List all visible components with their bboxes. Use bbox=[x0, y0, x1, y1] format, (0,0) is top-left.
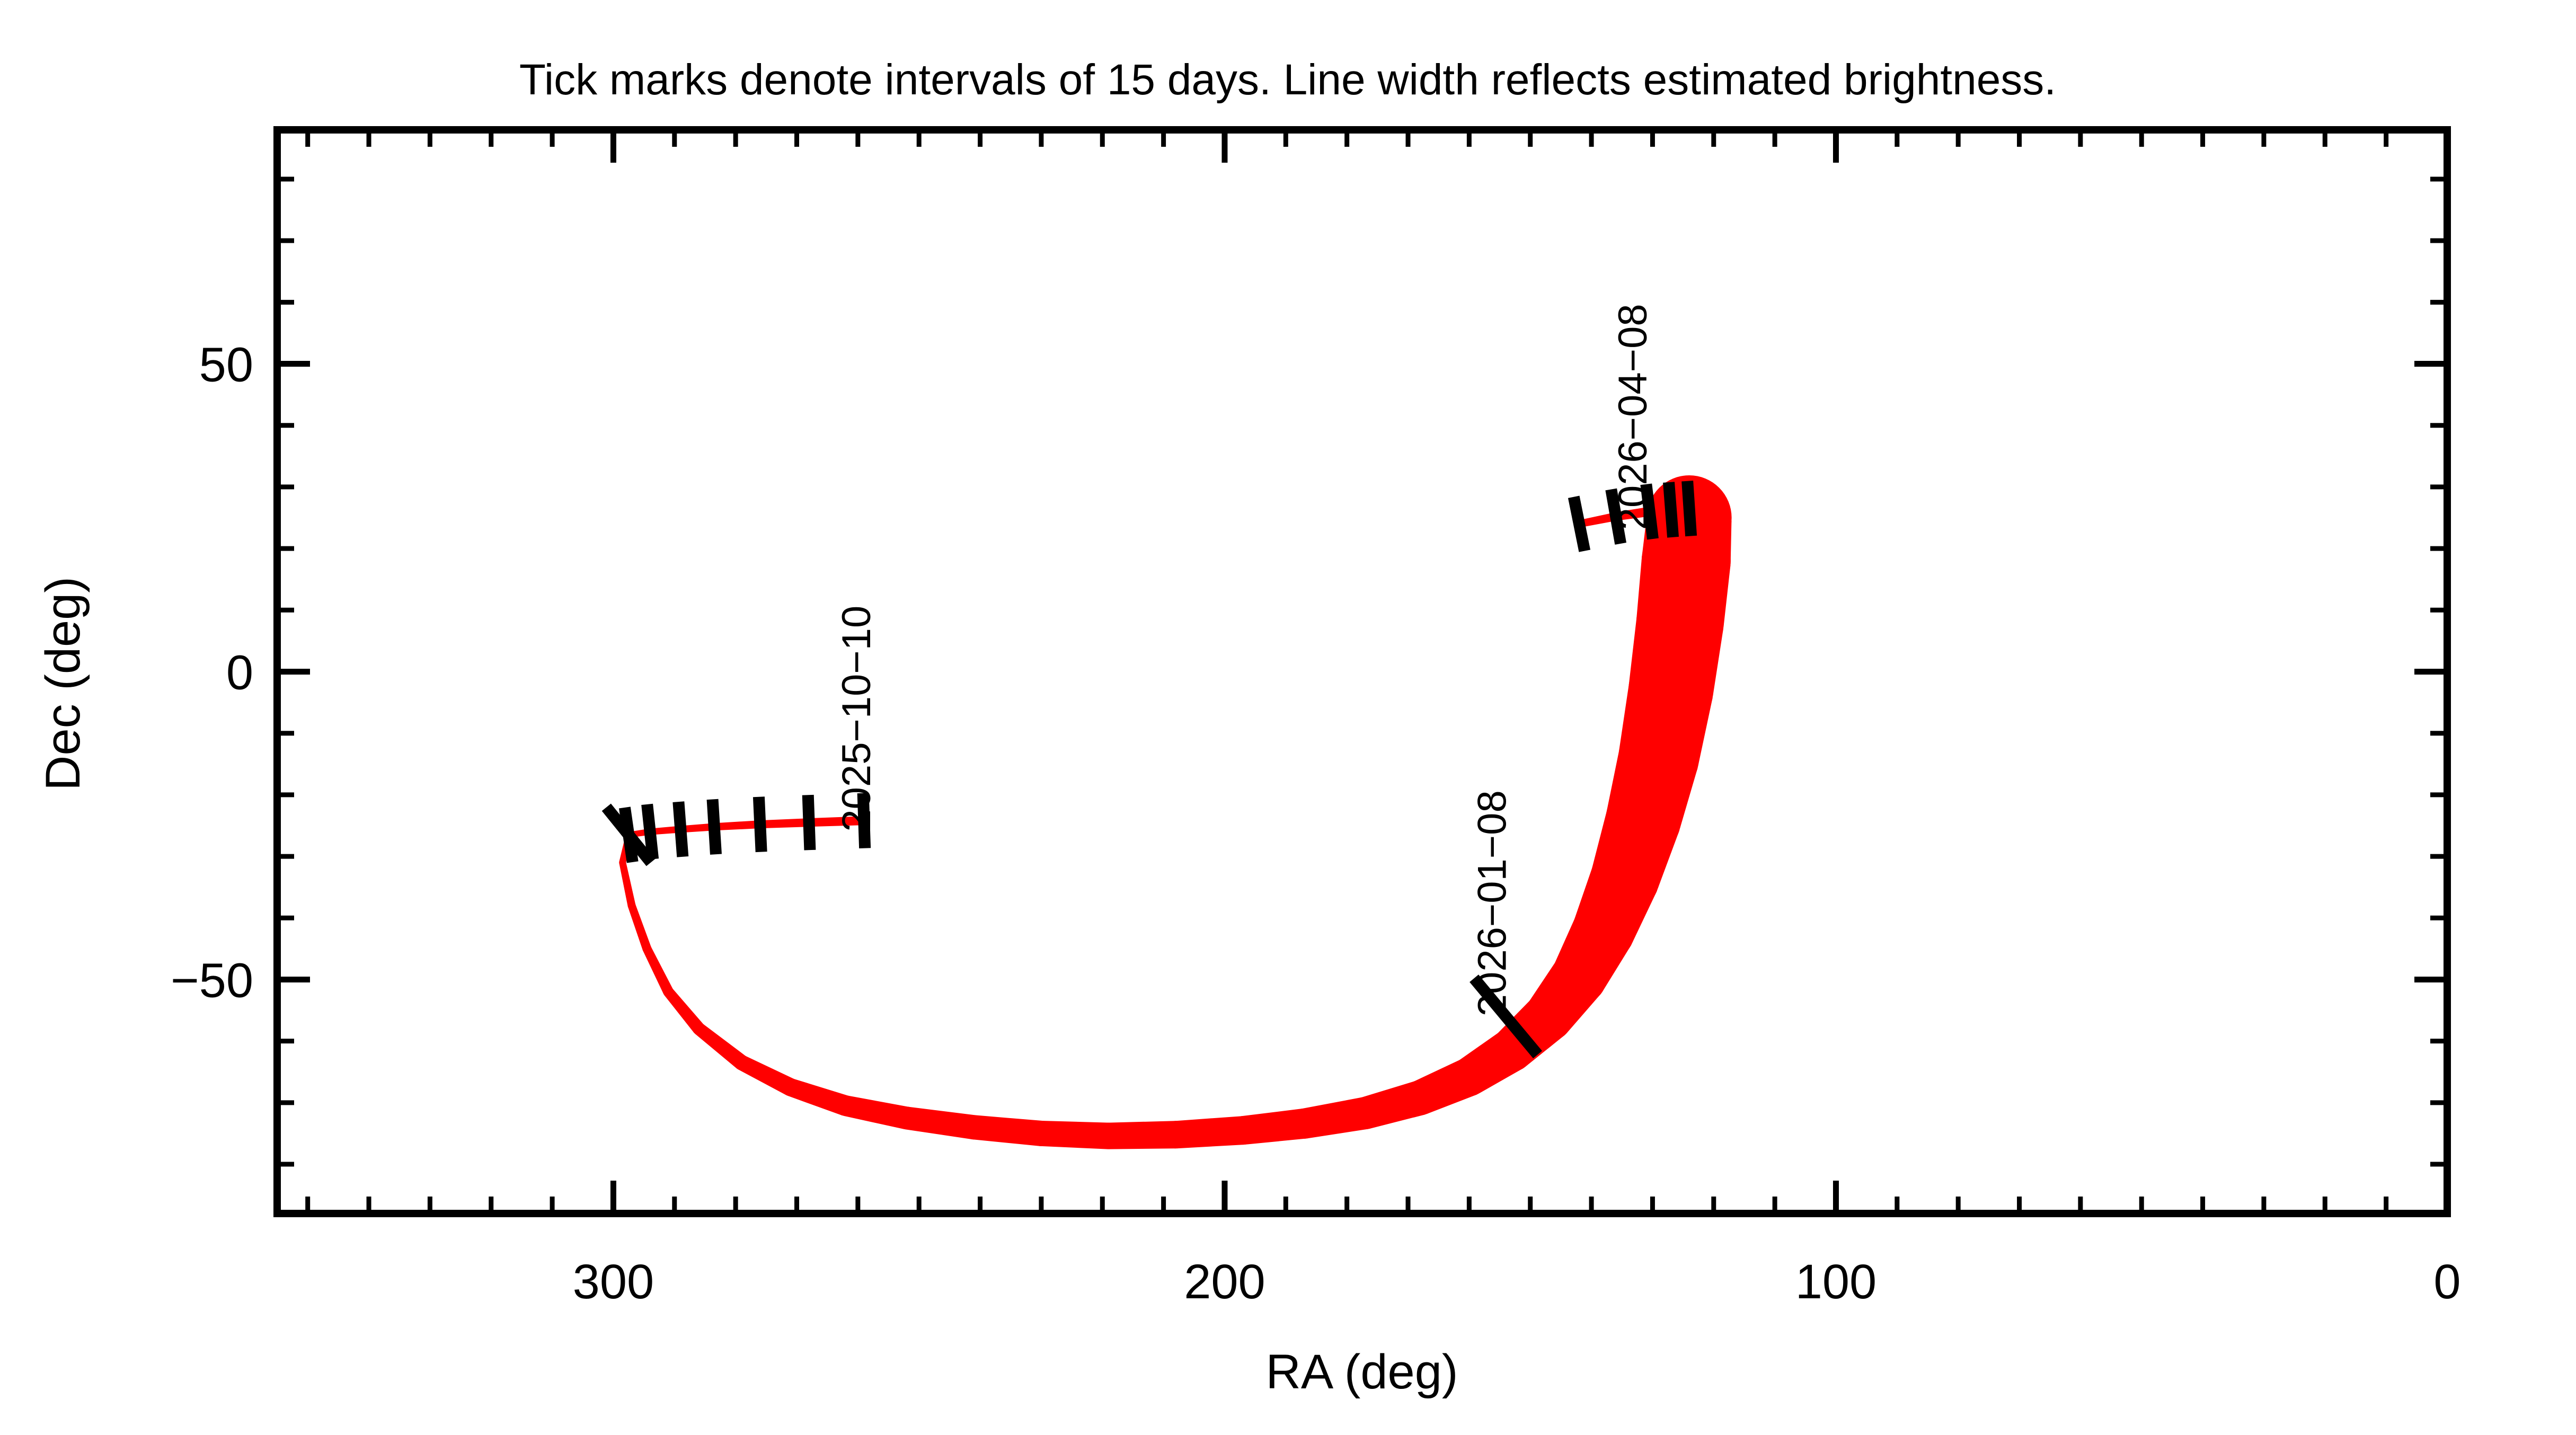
track-node bbox=[1229, 1116, 1258, 1145]
track-node bbox=[782, 1078, 800, 1096]
x-tick-label: 0 bbox=[2433, 1255, 2460, 1309]
track-node bbox=[835, 1095, 856, 1116]
plot-background bbox=[0, 0, 2576, 1435]
date-annotation: 2026−01−08 bbox=[1470, 790, 1515, 1016]
track-node bbox=[1289, 1109, 1319, 1139]
track-node bbox=[663, 987, 674, 997]
track-node bbox=[1029, 1121, 1054, 1146]
track-node bbox=[962, 1115, 986, 1139]
track-node bbox=[619, 859, 626, 866]
interval-tick bbox=[759, 797, 762, 852]
y-tick-label: 0 bbox=[226, 646, 253, 700]
track-node bbox=[642, 944, 651, 953]
interval-tick bbox=[678, 802, 683, 857]
chart-title: Tick marks denote intervals of 15 days. … bbox=[519, 56, 2056, 104]
y-axis-label: Dec (deg) bbox=[36, 577, 90, 791]
track-node bbox=[1403, 1080, 1438, 1115]
track-node bbox=[1450, 1058, 1489, 1096]
track-node bbox=[628, 902, 636, 910]
y-tick-label: 50 bbox=[199, 338, 253, 392]
track-node bbox=[1162, 1121, 1190, 1148]
track-node bbox=[1349, 1097, 1382, 1129]
y-tick-label: −50 bbox=[171, 953, 253, 1007]
x-tick-label: 200 bbox=[1184, 1255, 1265, 1309]
x-tick-label: 100 bbox=[1795, 1255, 1877, 1309]
figure-canvas: Tick marks denote intervals of 15 days. … bbox=[0, 0, 2576, 1435]
track-node bbox=[1095, 1123, 1122, 1149]
interval-tick bbox=[808, 795, 810, 850]
interval-tick bbox=[1687, 481, 1691, 536]
track-node bbox=[734, 1055, 749, 1070]
x-axis-label: RA (deg) bbox=[1265, 1345, 1458, 1399]
track-node bbox=[896, 1106, 918, 1129]
x-tick-label: 300 bbox=[573, 1255, 654, 1309]
track-node bbox=[693, 1022, 705, 1035]
sky-track-plot: Tick marks denote intervals of 15 days. … bbox=[0, 0, 2576, 1435]
date-annotation: 2026−04−08 bbox=[1610, 304, 1656, 530]
interval-tick bbox=[713, 799, 716, 854]
date-annotation: 2025−10−10 bbox=[834, 606, 879, 832]
interval-tick bbox=[1669, 482, 1673, 537]
